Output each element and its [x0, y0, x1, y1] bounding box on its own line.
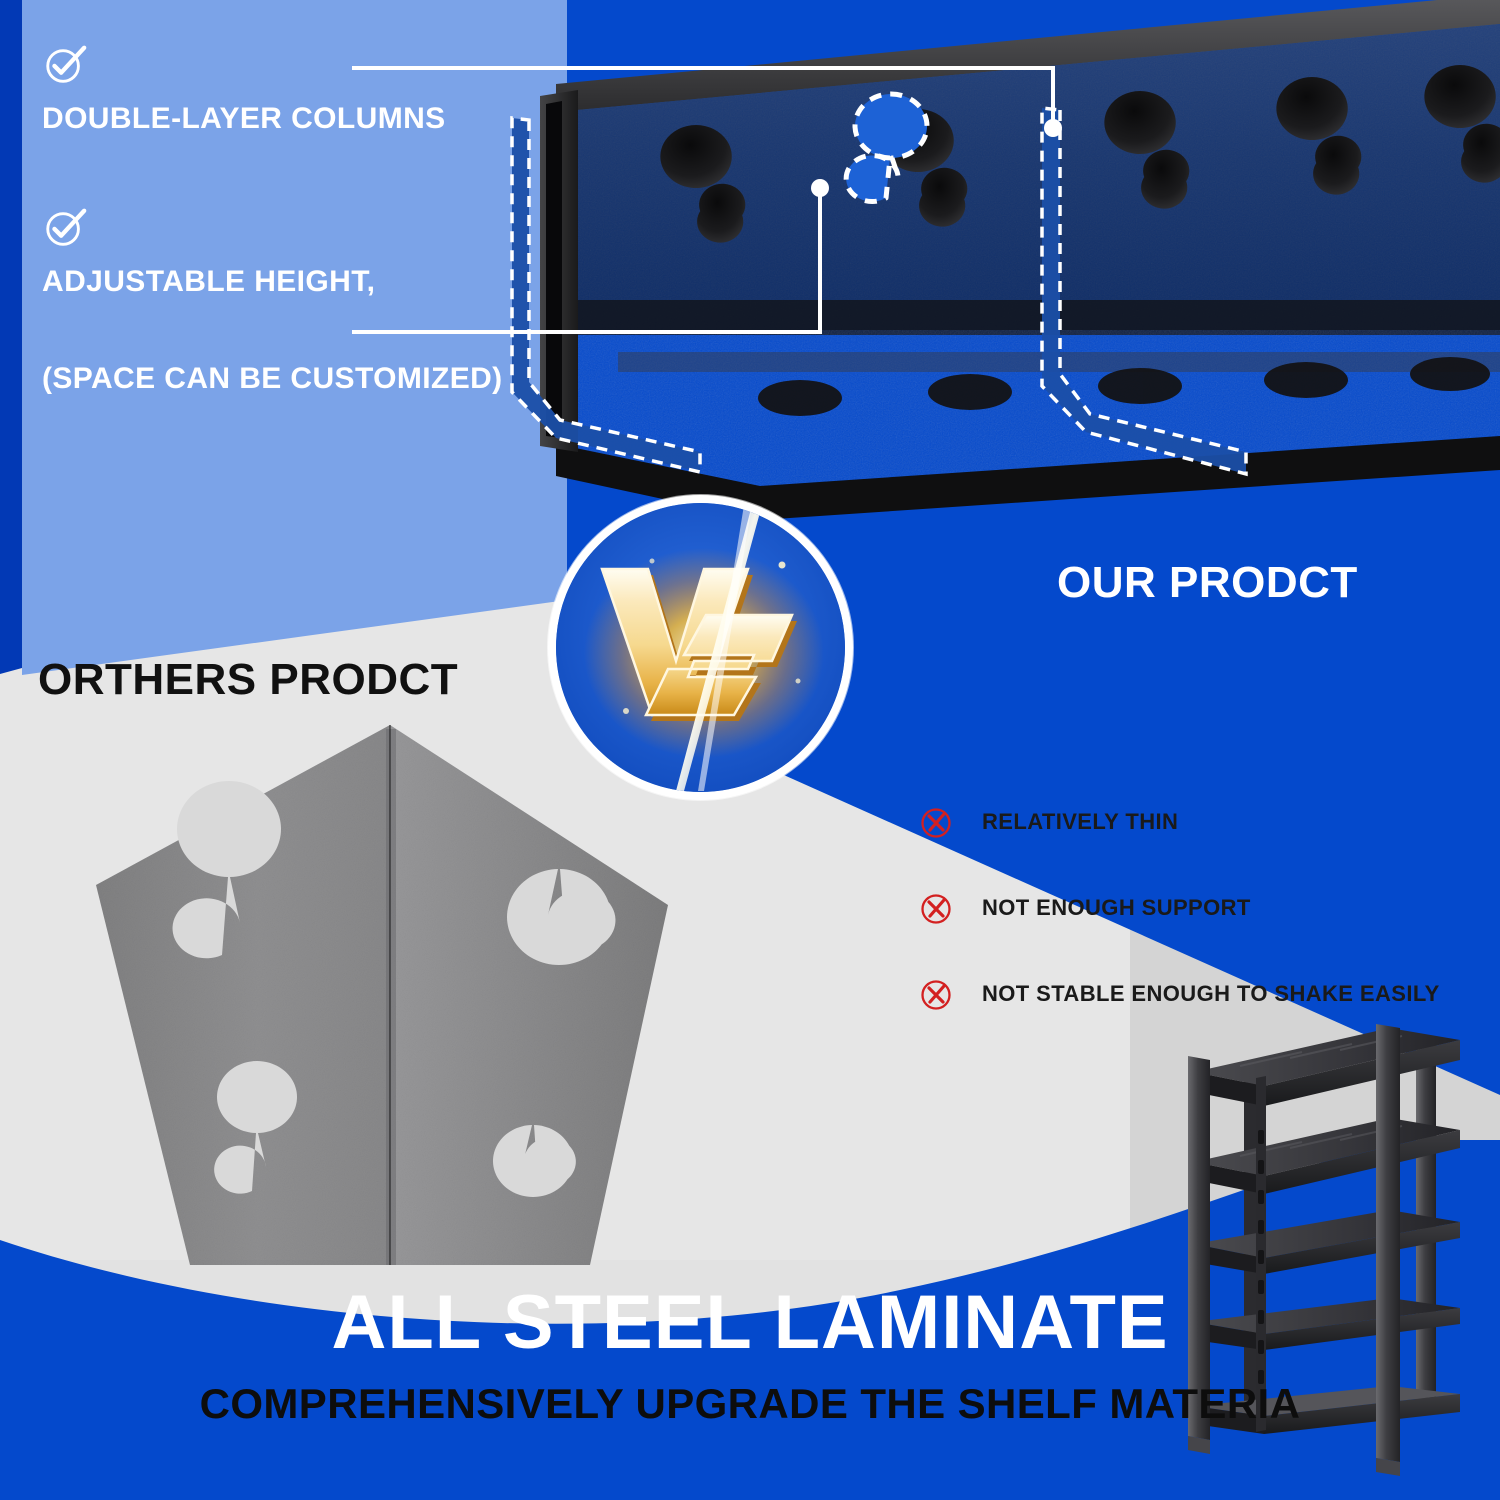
feature-label: ADJUSTABLE HEIGHT, — [42, 265, 567, 299]
con-label: NOT STABLE ENOUGH TO SHAKE EASILY — [982, 981, 1440, 1007]
x-circle-icon — [920, 891, 954, 925]
x-circle-icon — [920, 977, 954, 1011]
infographic-canvas: DOUBLE-LAYER COLUMNS ADJUSTABLE HEIGHT, … — [0, 0, 1500, 1500]
con-label: RELATIVELY THIN — [982, 809, 1178, 835]
top-feature-section: DOUBLE-LAYER COLUMNS ADJUSTABLE HEIGHT, … — [0, 0, 1500, 540]
vs-badge — [548, 495, 853, 800]
left-rail-diagonal-tail — [0, 540, 22, 680]
con-item-0: RELATIVELY THIN — [920, 800, 1480, 844]
feature-label: DOUBLE-LAYER COLUMNS — [42, 102, 567, 136]
shelf-unit-photo — [1180, 1010, 1480, 1480]
others-product-title: ORTHERS PRODCT — [38, 655, 458, 705]
con-label: NOT ENOUGH SUPPORT — [982, 895, 1251, 921]
con-item-1: NOT ENOUGH SUPPORT — [920, 886, 1480, 930]
x-circle-icon — [920, 805, 954, 839]
our-product-title: OUR PRODCT — [1057, 558, 1358, 608]
check-circle-icon — [42, 42, 88, 88]
feature-item-2: (SPACE CAN BE CUSTOMIZED) — [22, 362, 567, 396]
steel-beam-photo — [500, 0, 1500, 540]
feature-list: DOUBLE-LAYER COLUMNS ADJUSTABLE HEIGHT, … — [22, 0, 567, 540]
left-accent-rail — [0, 0, 22, 540]
feature-label: (SPACE CAN BE CUSTOMIZED) — [42, 362, 567, 396]
feature-item-1: ADJUSTABLE HEIGHT, — [22, 205, 567, 299]
feature-item-0: DOUBLE-LAYER COLUMNS — [22, 42, 567, 136]
check-circle-icon — [42, 205, 88, 251]
